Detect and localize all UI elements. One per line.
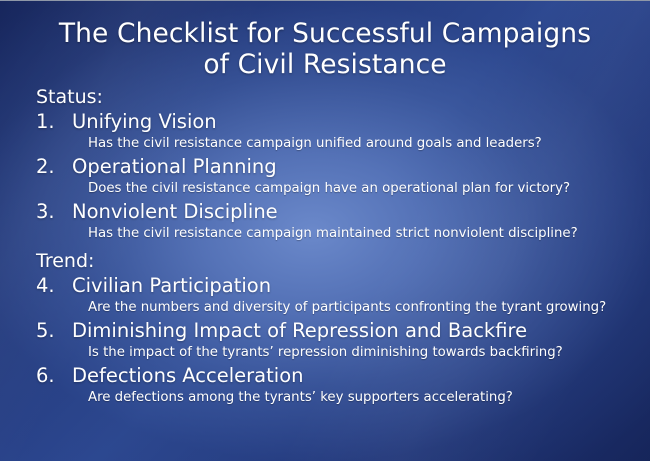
checklist-item-1-head: 1. Unifying Vision [0,109,650,134]
checklist-item-4-question: Are the numbers and diversity of partici… [0,298,650,317]
slide-title-line-2: of Civil Resistance [0,49,650,80]
checklist-item-4-head: 4. Civilian Participation [0,273,650,298]
checklist-item-1-title: Unifying Vision [72,109,650,134]
checklist-item-1-question: Has the civil resistance campaign unifie… [0,134,650,153]
presentation-slide: The Checklist for Successful Campaigns o… [0,0,650,461]
checklist-item-5: 5. Diminishing Impact of Repression and … [0,318,650,362]
checklist-item-6-head: 6. Defections Acceleration [0,363,650,388]
checklist-item-6: 6. Defections Acceleration Are defection… [0,363,650,407]
checklist-item-5-question: Is the impact of the tyrants’ repression… [0,343,650,362]
checklist-item-3-head: 3. Nonviolent Discipline [0,199,650,224]
checklist-item-6-question: Are defections among the tyrants’ key su… [0,388,650,407]
slide-title: The Checklist for Successful Campaigns o… [0,1,650,80]
checklist-item-2-head: 2. Operational Planning [0,154,650,179]
section-label-trend: Trend: [0,250,650,272]
checklist-item-4: 4. Civilian Participation Are the number… [0,273,650,317]
checklist-item-3-question: Has the civil resistance campaign mainta… [0,224,650,243]
slide-content: The Checklist for Successful Campaigns o… [0,1,650,461]
checklist-item-2-question: Does the civil resistance campaign have … [0,179,650,198]
checklist-item-6-title: Defections Acceleration [72,363,650,388]
checklist-item-2-title: Operational Planning [72,154,650,179]
checklist-item-5-title: Diminishing Impact of Repression and Bac… [72,318,650,343]
checklist-item-3-title: Nonviolent Discipline [72,199,650,224]
checklist-item-2-number: 2. [36,154,72,179]
checklist-item-3-number: 3. [36,199,72,224]
checklist-item-4-title: Civilian Participation [72,273,650,298]
checklist-item-4-number: 4. [36,273,72,298]
checklist-item-6-number: 6. [36,363,72,388]
checklist-item-3: 3. Nonviolent Discipline Has the civil r… [0,199,650,243]
checklist-item-5-number: 5. [36,318,72,343]
checklist-item-1: 1. Unifying Vision Has the civil resista… [0,109,650,153]
checklist-item-2: 2. Operational Planning Does the civil r… [0,154,650,198]
checklist-item-1-number: 1. [36,109,72,134]
section-label-status: Status: [0,86,650,108]
checklist-item-5-head: 5. Diminishing Impact of Repression and … [0,318,650,343]
slide-title-line-1: The Checklist for Successful Campaigns [0,18,650,49]
